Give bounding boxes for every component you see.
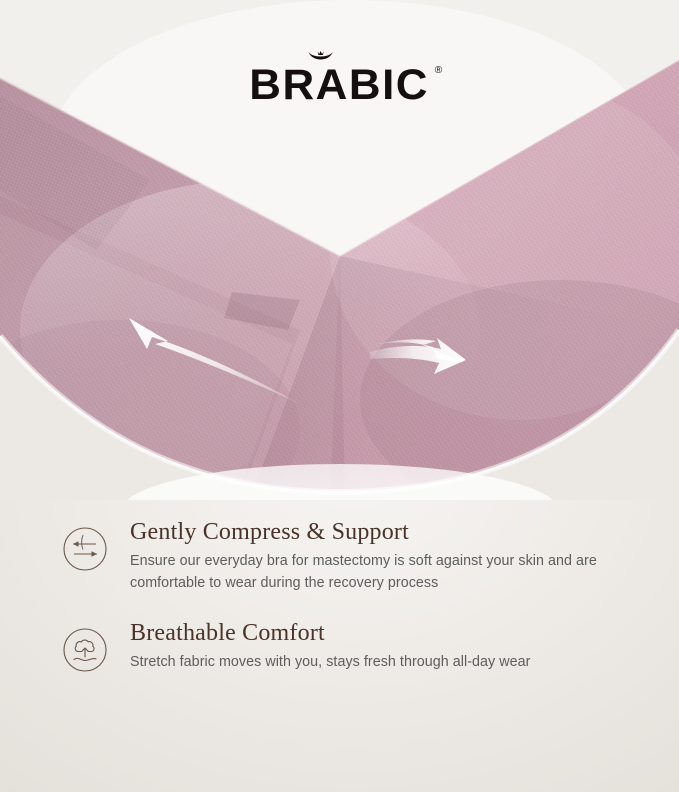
brand-name-part-1: BR [250,61,316,109]
feature-title: Gently Compress & Support [130,518,639,546]
brand-name-part-2: BIC [349,61,429,109]
feature-item: Gently Compress & Support Ensure our eve… [0,516,679,595]
feature-text: Gently Compress & Support Ensure our eve… [130,516,639,595]
registered-trademark-icon: ® [435,66,443,76]
brand-accent-letter: A [316,61,349,109]
brand-logo-wrap: BRABIC® [0,64,679,107]
breathable-cloud-icon [62,627,108,673]
feature-list: Gently Compress & Support Ensure our eve… [0,516,679,674]
feature-text: Breathable Comfort Stretch fabric moves … [130,617,639,674]
product-feature-page: BRABIC® Gently Compress & Support [0,0,679,792]
feature-item: Breathable Comfort Stretch fabric moves … [0,617,679,674]
bottom-spacer [0,736,679,792]
feature-title: Breathable Comfort [130,619,639,647]
bidirectional-arrows-icon [62,526,108,572]
feature-description: Stretch fabric moves with you, stays fre… [130,652,639,674]
feature-description: Ensure our everyday bra for mastectomy i… [130,551,639,594]
brand-logo: BRABIC® [250,64,430,107]
